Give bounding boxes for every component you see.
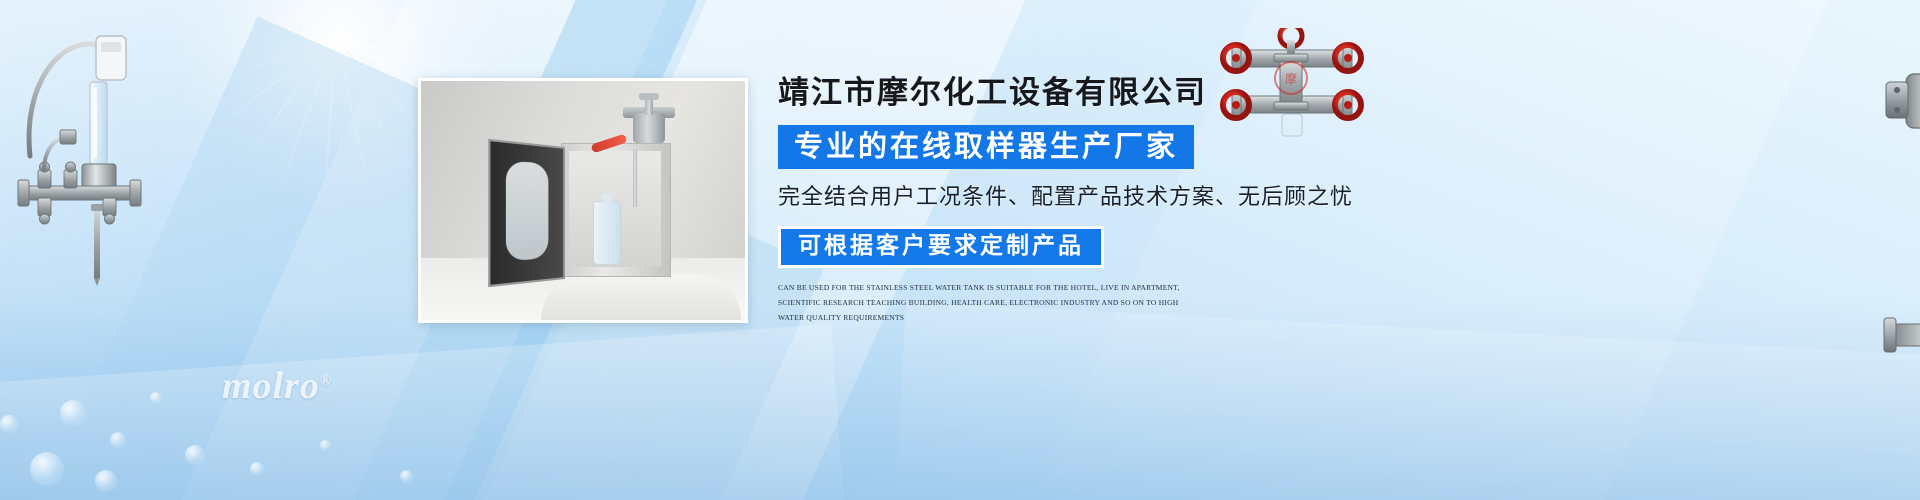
headline-highlight: 专业的在线取样器生产厂家 [778,125,1194,169]
watermark-logo: molro® [222,364,332,408]
water-droplet-icon [400,470,413,483]
cabinet-door [488,139,565,287]
valve-cap [639,93,659,100]
left-equipment-illustration [8,18,183,288]
watermark-text: molro [222,365,320,407]
bottom-gradient-decor [0,324,847,500]
light-ray-icon [277,35,337,195]
headline-row: 专业的在线取样器生产厂家 [778,125,1398,169]
water-droplet-icon [185,445,205,465]
registered-mark-icon: ® [320,372,332,388]
banner-text-block: 靖江市摩尔化工设备有限公司 专业的在线取样器生产厂家 完全结合用户工况条件、配置… [778,76,1398,325]
sample-bottle [593,201,621,265]
water-droplet-icon [150,392,162,404]
english-description: CAN BE USED FOR THE STAINLESS STEEL WATE… [778,281,1190,325]
water-droplet-icon [95,470,117,492]
cabinet-door-window [506,160,548,261]
water-droplet-icon [60,400,86,426]
water-droplet-icon [0,415,18,433]
light-ray-icon [335,35,372,202]
light-ray-icon [201,34,336,140]
photo-pedestal [541,274,741,320]
company-title: 靖江市摩尔化工设备有限公司 [778,76,1398,110]
promo-banner: 摩 [0,0,1920,500]
light-ray-icon [224,34,336,81]
water-droplet-icon [320,440,331,451]
bottom-right-equipment-illustration [1880,268,1920,468]
light-ray-icon [336,34,451,73]
water-droplet-icon [250,462,264,476]
light-ray-icon [235,34,337,173]
valve-body [633,113,665,143]
bottom-gradient-decor [896,301,1920,500]
water-droplet-icon [30,452,64,486]
light-ray-icon [335,35,411,189]
sampler-tube [633,149,637,207]
custom-product-badge: 可根据客户要求定制产品 [778,226,1104,269]
light-ray-icon [323,35,337,205]
sub-headline: 完全结合用户工况条件、配置产品技术方案、无后顾之忧 [778,185,1398,211]
water-droplet-icon [110,432,126,448]
product-photo [418,78,748,323]
sampler-valve-head [617,97,679,151]
custom-box-row: 可根据客户要求定制产品 [778,226,1398,269]
right-equipment-illustration [1880,22,1920,202]
